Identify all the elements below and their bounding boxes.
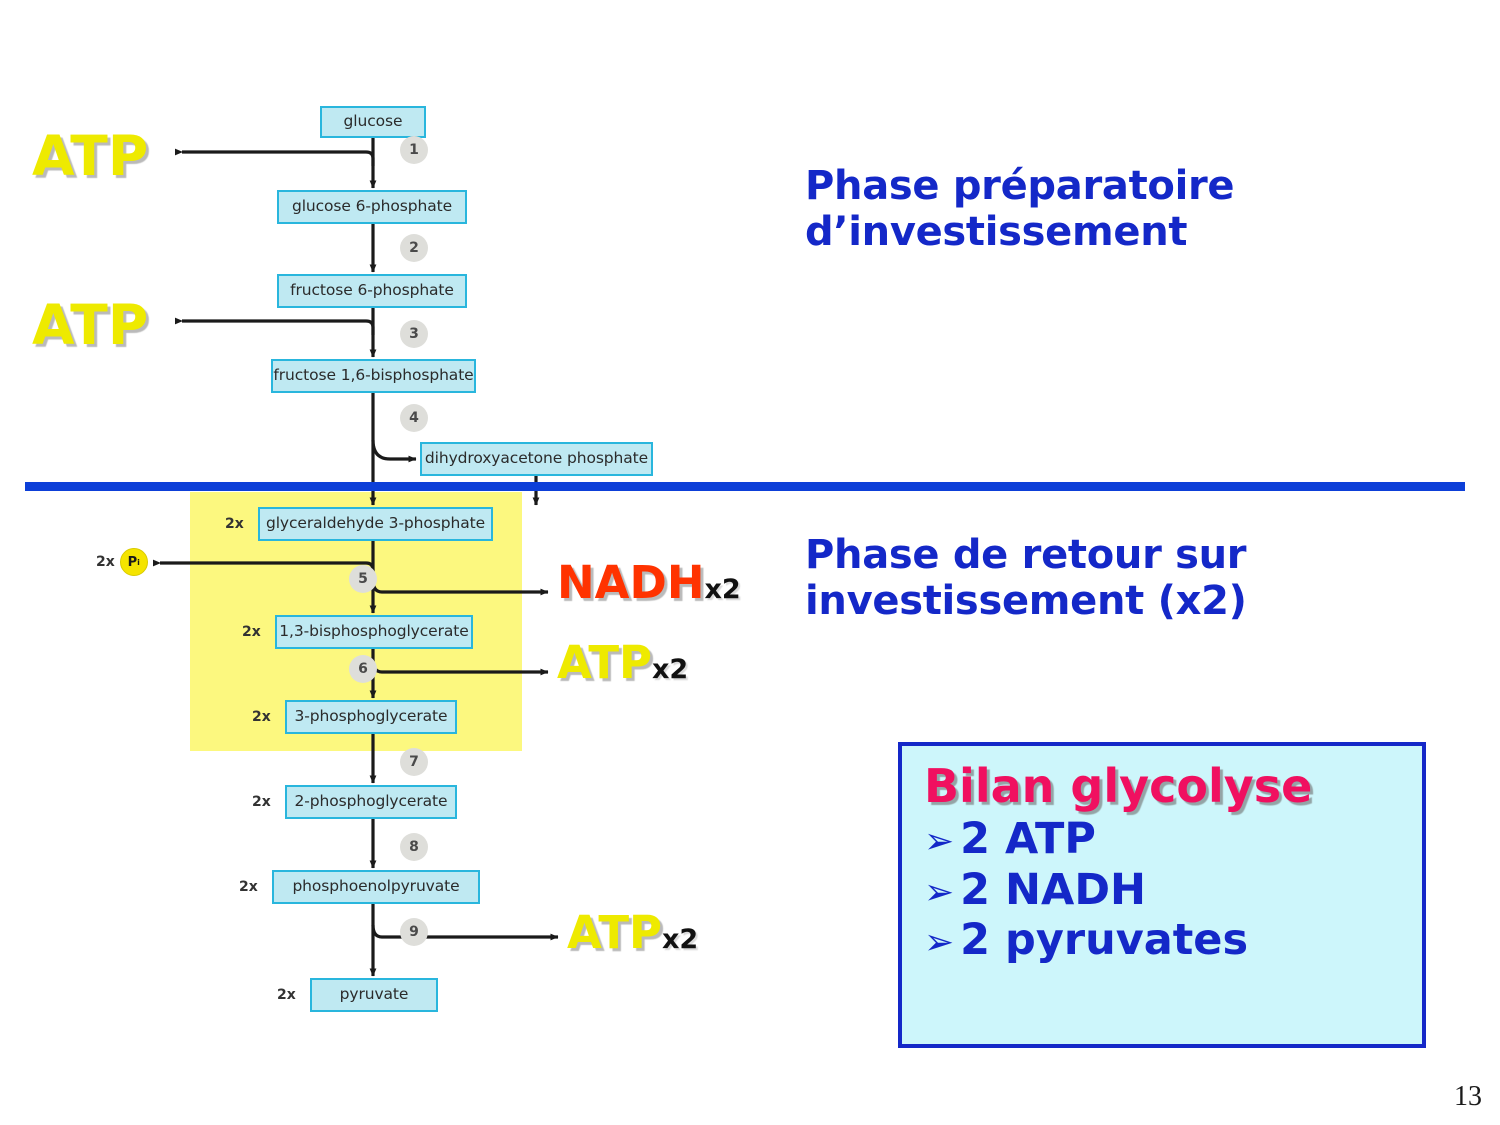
reaction-step-3: 3 xyxy=(400,320,428,348)
metabolite-label: glucose xyxy=(344,114,403,130)
heading-phase-preparatoire: Phase préparatoire d’investissement xyxy=(805,163,1234,256)
metabolite-label: fructose 6-phosphate xyxy=(290,283,454,299)
atp-input-step3: ATP xyxy=(32,298,148,353)
bilan-item-pyruvate: ➢ 2 pyruvates xyxy=(924,915,1402,965)
metabolite-label: pyruvate xyxy=(340,987,409,1003)
pi-multiplier: 2x xyxy=(96,554,115,570)
metabolite-label: fructose 1,6-bisphosphate xyxy=(273,368,473,384)
metabolite-glucose: glucose xyxy=(320,106,426,138)
energy-molecule-label: ATP xyxy=(32,293,148,357)
metabolite-label: glucose 6-phosphate xyxy=(292,199,452,215)
multiplier-pyruvate: 2x xyxy=(277,987,296,1003)
heading-phase-retour: Phase de retour sur investissement (x2) xyxy=(805,532,1247,625)
bilan-summary-box: Bilan glycolyse ➢ 2 ATP ➢ 2 NADH ➢ 2 pyr… xyxy=(898,742,1426,1048)
metabolite-label: glyceraldehyde 3-phosphate xyxy=(266,516,485,532)
bilan-item-nadh: ➢ 2 NADH xyxy=(924,865,1402,915)
metabolite-label: 3-phosphoglycerate xyxy=(295,709,448,725)
metabolite-label: dihydroxyacetone phosphate xyxy=(425,451,648,467)
reaction-step-6: 6 xyxy=(349,655,377,683)
metabolite-dihydroxyacetone-phosphate: dihydroxyacetone phosphate xyxy=(420,442,653,476)
metabolite-label: 2-phosphoglycerate xyxy=(295,794,448,810)
metabolite-fructose-1-6-bisphosphate: fructose 1,6-bisphosphate xyxy=(271,359,476,393)
reaction-step-1: 1 xyxy=(400,136,428,164)
bullet-arrow-icon: ➢ xyxy=(924,872,954,914)
metabolite-glyceraldehyde-3-phosphate: glyceraldehyde 3-phosphate xyxy=(258,507,493,541)
atp-input-step1: ATP xyxy=(32,129,148,184)
energy-multiplier-label: x2 xyxy=(662,924,698,955)
metabolite-3-phosphoglycerate: 3-phosphoglycerate xyxy=(285,700,457,734)
reaction-step-2: 2 xyxy=(400,234,428,262)
metabolite-fructose-6-phosphate: fructose 6-phosphate xyxy=(277,274,467,308)
multiplier-3-phosphoglycerate: 2x xyxy=(252,709,271,725)
energy-multiplier-label: x2 xyxy=(705,574,741,605)
metabolite-1-3-bisphosphoglycerate: 1,3-bisphosphoglycerate xyxy=(275,615,473,649)
metabolite-label: 1,3-bisphosphoglycerate xyxy=(279,624,468,640)
phase-divider xyxy=(25,482,1465,491)
metabolite-phosphoenolpyruvate: phosphoenolpyruvate xyxy=(272,870,480,904)
reaction-step-9: 9 xyxy=(400,918,428,946)
energy-molecule-label: NADH xyxy=(557,556,705,609)
energy-molecule-label: ATP xyxy=(557,636,652,689)
pi-symbol: P xyxy=(128,555,138,570)
bilan-item-label: 2 pyruvates xyxy=(960,915,1248,965)
energy-molecule-label: ATP xyxy=(32,124,148,188)
bullet-arrow-icon: ➢ xyxy=(924,922,954,964)
multiplier-2-phosphoglycerate: 2x xyxy=(252,794,271,810)
metabolite-label: phosphoenolpyruvate xyxy=(292,879,459,895)
metabolite-2-phosphoglycerate: 2-phosphoglycerate xyxy=(285,785,457,819)
bilan-item-label: 2 ATP xyxy=(960,814,1096,864)
multiplier-glyceraldehyde-3-phosphate: 2x xyxy=(225,516,244,532)
pi-subscript: i xyxy=(137,558,140,567)
energy-molecule-label: ATP xyxy=(567,906,662,959)
bilan-item-label: 2 NADH xyxy=(960,865,1146,915)
reaction-step-4: 4 xyxy=(400,404,428,432)
nadh-output-step5: NADHx2 xyxy=(557,560,741,605)
bilan-item-atp: ➢ 2 ATP xyxy=(924,814,1402,864)
pi-circle-icon: Pi xyxy=(120,548,148,576)
reaction-step-7: 7 xyxy=(400,748,428,776)
bullet-arrow-icon: ➢ xyxy=(924,821,954,863)
reaction-step-5: 5 xyxy=(349,565,377,593)
metabolite-glucose-6-phosphate: glucose 6-phosphate xyxy=(277,190,467,224)
multiplier-1-3-bisphosphoglycerate: 2x xyxy=(242,624,261,640)
atp-output-step6: ATPx2 xyxy=(557,640,688,685)
multiplier-phosphoenolpyruvate: 2x xyxy=(239,879,258,895)
inorganic-phosphate-label: 2x Pi xyxy=(96,548,148,576)
energy-multiplier-label: x2 xyxy=(652,654,688,685)
atp-output-step9: ATPx2 xyxy=(567,910,698,955)
reaction-step-8: 8 xyxy=(400,833,428,861)
metabolite-pyruvate: pyruvate xyxy=(310,978,438,1012)
slide-canvas: glucoseglucose 6-phosphatefructose 6-pho… xyxy=(0,0,1500,1125)
bilan-title: Bilan glycolyse xyxy=(924,762,1402,810)
page-number: 13 xyxy=(1454,1081,1482,1113)
